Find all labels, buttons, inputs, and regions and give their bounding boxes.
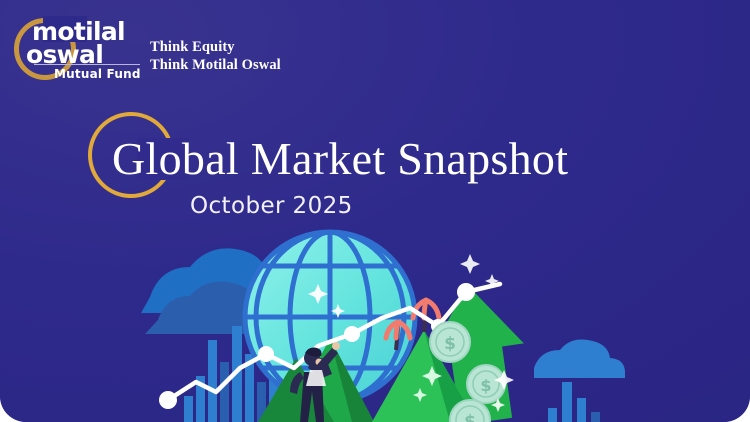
page-title: Global Market Snapshot bbox=[112, 132, 568, 185]
bar-chart-right bbox=[548, 382, 600, 422]
page-subtitle: October 2025 bbox=[190, 193, 353, 219]
poster-canvas: $ $ $ bbox=[0, 0, 750, 422]
svg-text:$: $ bbox=[444, 334, 456, 354]
brand-logo[interactable]: motilal oswal Mutual Fund Think Equity T… bbox=[10, 8, 310, 92]
logo-divider bbox=[34, 64, 140, 65]
logo-wordmark: motilal oswal bbox=[24, 20, 154, 66]
headline-block: Global Market Snapshot October 2025 bbox=[0, 108, 750, 233]
svg-text:$: $ bbox=[480, 376, 491, 395]
cloud-right bbox=[534, 339, 625, 378]
brand-tagline: Think Equity Think Motilal Oswal bbox=[150, 38, 281, 74]
logo-line-oswal: oswal bbox=[26, 43, 154, 66]
logo-subtitle: Mutual Fund bbox=[54, 67, 141, 81]
svg-text:$: $ bbox=[464, 412, 476, 422]
global-market-illustration: $ $ $ bbox=[0, 222, 750, 422]
